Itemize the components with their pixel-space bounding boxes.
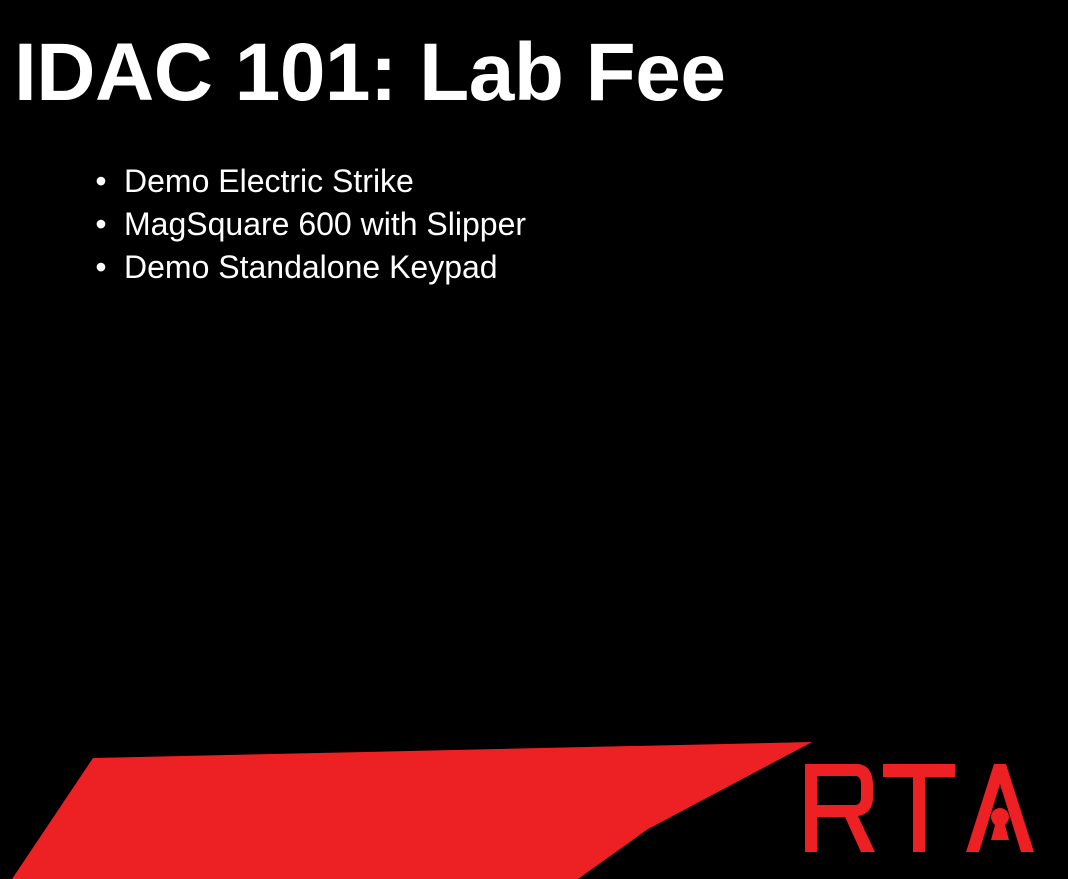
- letter-a-keyhole-icon: [966, 764, 1034, 852]
- bullet-marker-icon: •: [95, 246, 107, 289]
- bright-red-banner-shape: [12, 742, 812, 879]
- list-item-label: Demo Standalone Keypad: [124, 249, 498, 285]
- list-item: • MagSquare 600 with Slipper: [90, 203, 526, 246]
- presentation-slide: IDAC 101: Lab Fee • Demo Electric Strike…: [0, 0, 1068, 879]
- rta-logo: [803, 762, 1035, 854]
- bullet-marker-icon: •: [95, 203, 107, 246]
- list-item: • Demo Electric Strike: [90, 160, 526, 203]
- footer-decoration-graphic: [0, 0, 1068, 879]
- bullet-marker-icon: •: [95, 160, 107, 203]
- list-item-label: Demo Electric Strike: [124, 163, 414, 199]
- list-item-label: MagSquare 600 with Slipper: [124, 206, 526, 242]
- bullet-list: • Demo Electric Strike • MagSquare 600 w…: [90, 160, 526, 289]
- letter-r-icon: [805, 764, 875, 852]
- dark-red-wedge-shape: [365, 742, 812, 827]
- letter-t-icon: [883, 764, 955, 852]
- list-item: • Demo Standalone Keypad: [90, 246, 526, 289]
- slide-title: IDAC 101: Lab Fee: [14, 32, 725, 114]
